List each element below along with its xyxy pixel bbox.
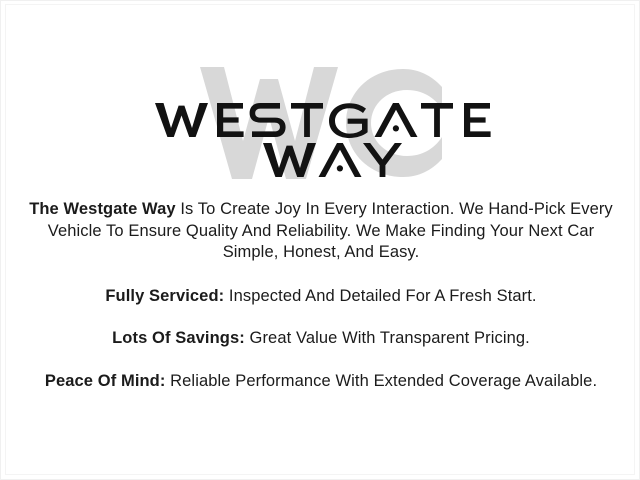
promo-card: The Westgate Way Is To Create Joy In Eve… — [0, 0, 640, 480]
benefit-label: Lots Of Savings: — [112, 329, 245, 347]
body-copy: The Westgate Way Is To Create Joy In Eve… — [21, 199, 621, 392]
benefit-text: Inspected And Detailed For A Fresh Start… — [224, 287, 536, 305]
benefit-text: Reliable Performance With Extended Cover… — [165, 372, 597, 390]
benefit-item-lots-of-savings: Lots Of Savings: Great Value With Transp… — [21, 328, 621, 350]
lead-paragraph: The Westgate Way Is To Create Joy In Eve… — [21, 199, 621, 264]
logo-line-westgate — [155, 103, 491, 138]
benefit-item-fully-serviced: Fully Serviced: Inspected And Detailed F… — [21, 286, 621, 308]
brand-logo-block — [1, 53, 640, 183]
logo-line-way — [263, 143, 402, 177]
benefit-item-peace-of-mind: Peace Of Mind: Reliable Performance With… — [21, 371, 621, 393]
westgate-way-wordmark — [151, 91, 495, 179]
benefit-label: Peace Of Mind: — [45, 372, 166, 390]
benefit-text: Great Value With Transparent Pricing. — [245, 329, 530, 347]
lead-label: The Westgate Way — [29, 200, 175, 218]
benefit-label: Fully Serviced: — [105, 287, 224, 305]
